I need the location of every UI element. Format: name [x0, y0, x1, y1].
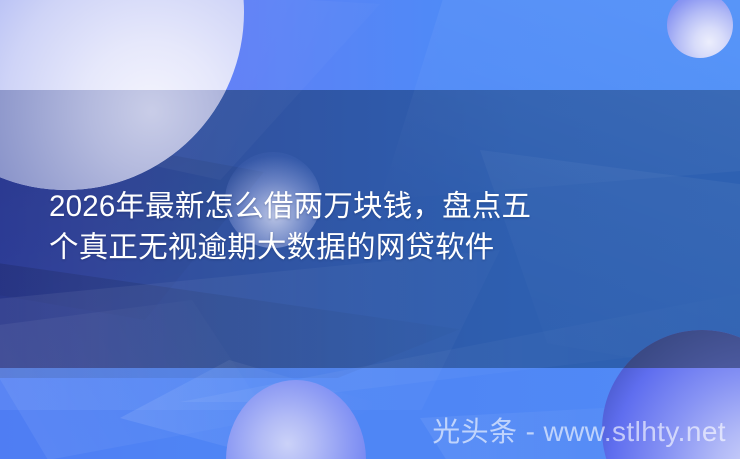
banner-title: 2026年最新怎么借两万块钱，盘点五 个真正无视逾期大数据的网贷软件	[49, 186, 709, 268]
site-watermark: 光头条 - www.stlhty.net	[432, 410, 726, 450]
background-band-top	[0, 0, 740, 90]
banner-image: 2026年最新怎么借两万块钱，盘点五 个真正无视逾期大数据的网贷软件 光头条 -…	[0, 0, 740, 459]
